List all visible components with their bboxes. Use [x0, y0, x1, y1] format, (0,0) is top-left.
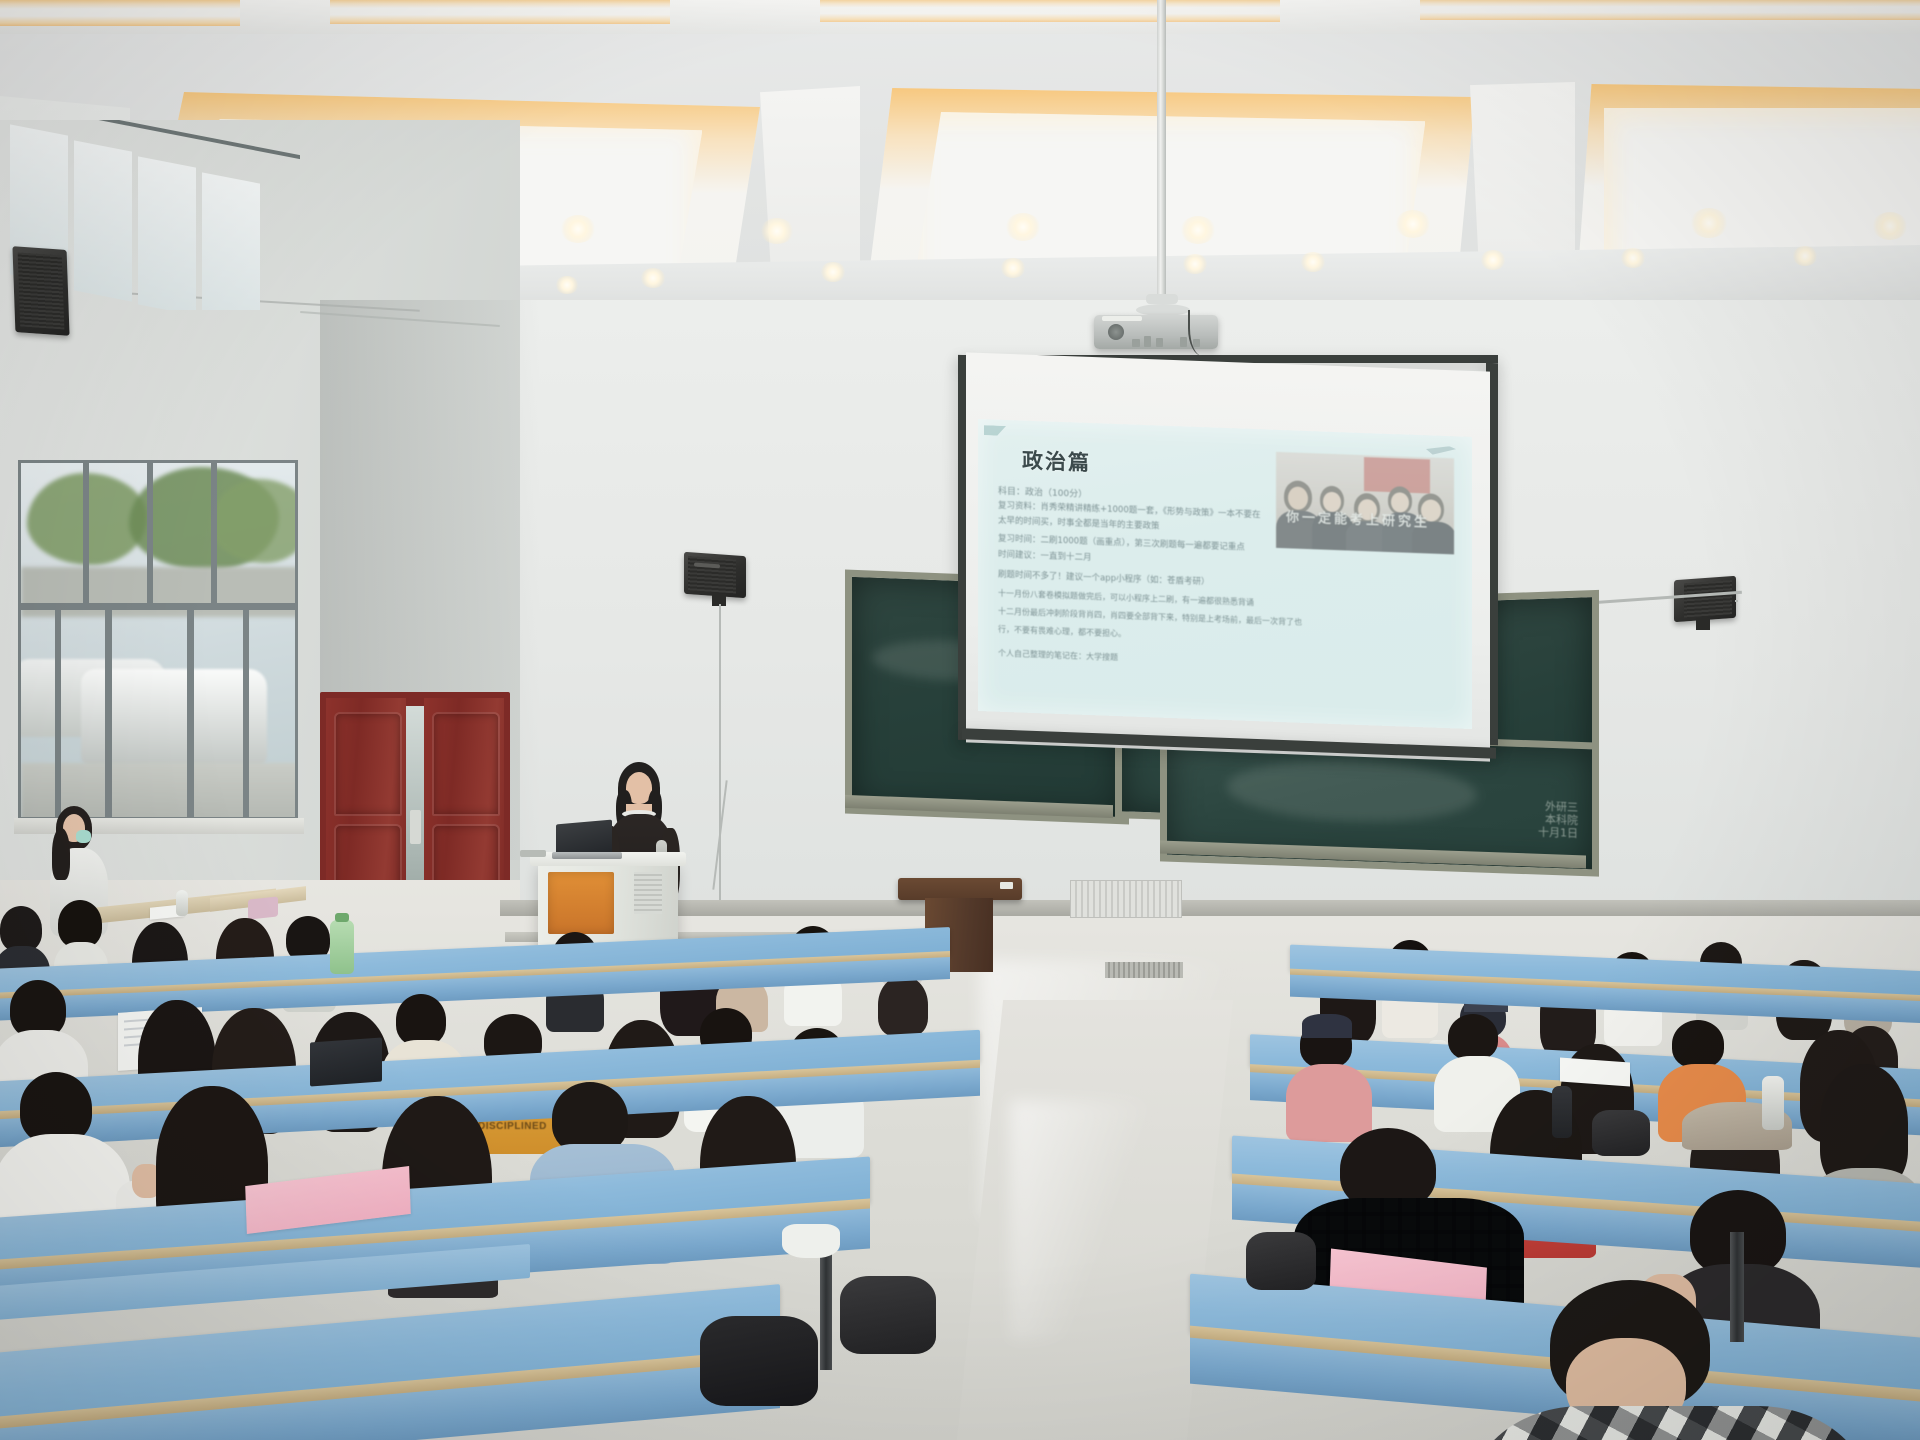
baseboard-back: [500, 900, 1920, 916]
side-table-bottle: [176, 890, 188, 916]
downlight-10: [640, 268, 666, 288]
downlight-3: [760, 218, 794, 244]
downlight-5: [1180, 216, 1216, 244]
right-bottle-3: [1762, 1076, 1784, 1130]
floor-bag-right: [1246, 1232, 1316, 1290]
slide-line-6: 刷题时间不多了！建议一个app小程序（如：苍盾考研）: [998, 568, 1210, 588]
slide-line-3: 太早的时间买，时事全都是当年的主要政策: [998, 514, 1160, 532]
coffer-strip-b: [330, 0, 670, 24]
floor-grate: [1105, 962, 1183, 978]
downlight-4: [1005, 213, 1041, 241]
classroom-window: [18, 460, 298, 820]
right-handout: [1560, 1058, 1630, 1087]
podium-mouse-pad: [520, 850, 546, 857]
chalk-note-3: 十月1日: [1538, 826, 1578, 840]
downlight-12: [1000, 258, 1026, 278]
floor-bag-left-2: [700, 1316, 818, 1406]
student-shoe: [782, 1224, 840, 1258]
student-tablet: [310, 1037, 382, 1086]
projector-mount-pole: [1157, 0, 1166, 300]
door-handle[interactable]: [410, 810, 421, 844]
downlight-6: [1395, 210, 1431, 238]
lecture-hall-photo: 外研三 本科院 十月1日 政治篇 科目：政治（100分） 复习资料：肖秀荣精讲精…: [0, 0, 1920, 1440]
speaker-bracket-right: [1696, 618, 1710, 630]
coffer-strip-a: [0, 0, 240, 26]
slide-line-5: 时间建议：一直到十二月: [998, 548, 1092, 563]
downlight-7: [1690, 208, 1728, 238]
speaker-wire-left: [719, 604, 721, 904]
downlight-18: [555, 276, 579, 294]
coffer-strip-c: [820, 0, 1280, 22]
slide-logo-icon: [1426, 445, 1456, 455]
downlight-16: [1620, 248, 1646, 268]
face-mask: [76, 830, 91, 843]
desk-bag-right: [1592, 1110, 1650, 1156]
slide-line-1: 科目：政治（100分）: [998, 484, 1087, 500]
podium-front-panel: [548, 872, 614, 934]
slide-title: 政治篇: [1022, 445, 1091, 478]
projector-mount-plate: [1146, 294, 1178, 304]
floor-bag-left-1: [840, 1276, 936, 1354]
podium-vent: [634, 872, 662, 914]
wall-speaker-upper-left: [12, 246, 69, 336]
side-table-bag: [248, 896, 278, 919]
aisle-reflection: [1010, 1100, 1170, 1340]
slide-line-9: 行，不要有畏难心理，都不要担心。: [998, 624, 1126, 640]
desk-leg-left: [820, 1240, 832, 1370]
student-cap-right-1: [1302, 1014, 1352, 1038]
slide-corner-mark: [984, 425, 1006, 436]
downlight-17: [1792, 246, 1818, 266]
lectern-label: [1000, 882, 1013, 889]
downlight-14: [1300, 252, 1326, 272]
downlight-2: [560, 215, 596, 243]
presenter-laptop-base: [552, 852, 622, 859]
downlight-11: [820, 262, 846, 282]
slide-line-10: 个人自己整理的笔记在：大学搜题: [998, 648, 1118, 663]
speaker-wire-right: [1735, 600, 1738, 602]
right-bottle-2: [1552, 1086, 1572, 1138]
coffer-strip-d: [1420, 0, 1920, 20]
downlight-8: [1872, 212, 1908, 240]
downlight-13: [1182, 254, 1208, 274]
wall-speaker-left: [684, 552, 746, 598]
wall-speaker-right: [1674, 576, 1736, 622]
slide-photo: 你一定能考上研究生: [1276, 452, 1454, 555]
downlight-15: [1480, 250, 1506, 270]
desk-leg-right: [1730, 1232, 1744, 1342]
wall-radiator: [1070, 880, 1182, 918]
slide-line-7: 十一月份八套卷模拟题做完后，可以小程序上二刷，有一遍都很熟悉背诵: [998, 588, 1254, 608]
projected-slide: 政治篇 科目：政治（100分） 复习资料：肖秀荣精讲精练+1000题一套，《形势…: [978, 419, 1472, 729]
green-water-bottle: [330, 920, 354, 974]
